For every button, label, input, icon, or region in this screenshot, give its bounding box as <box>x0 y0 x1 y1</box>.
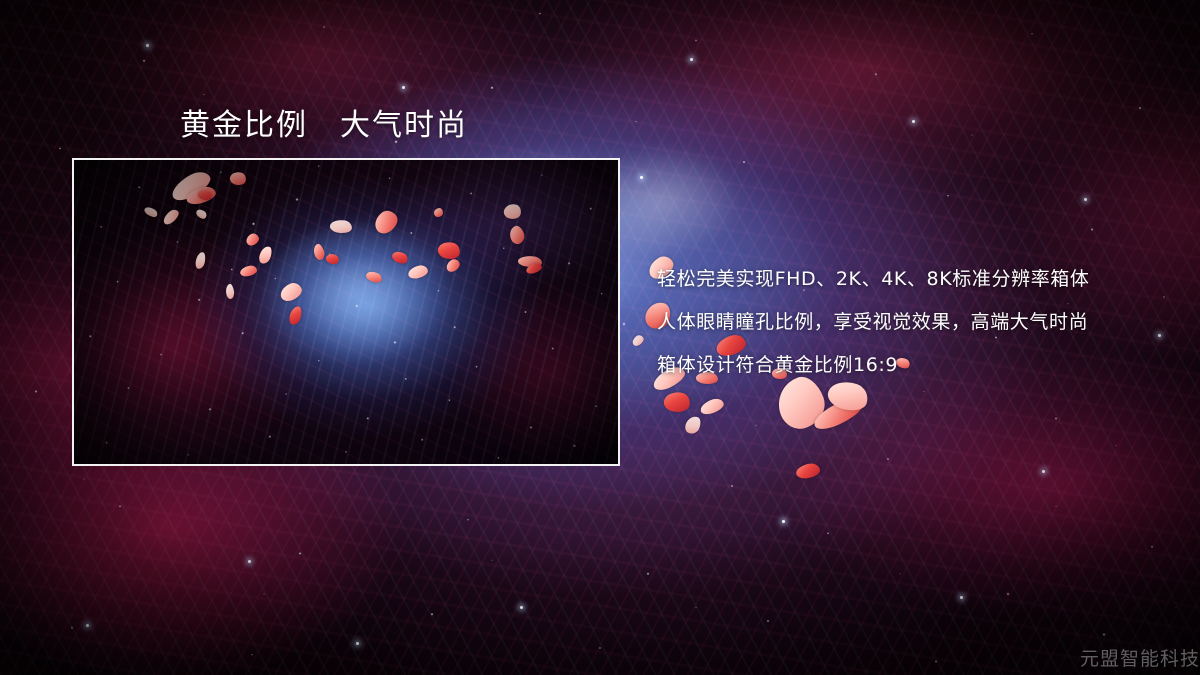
bright-star <box>1042 470 1045 473</box>
body-copy-line: 人体眼睛瞳孔比例，享受视觉效果，高端大气时尚 <box>657 301 1090 344</box>
bright-star <box>960 596 963 599</box>
bright-star <box>690 58 693 61</box>
bright-star <box>1084 198 1087 201</box>
bright-star <box>782 520 785 523</box>
rose-petal <box>631 333 646 347</box>
rose-petal <box>699 397 726 417</box>
watermark: 元盟智能科技 <box>1080 644 1200 671</box>
bright-star <box>248 560 251 563</box>
panel-vignette <box>74 160 618 464</box>
panel-image <box>74 160 618 464</box>
bright-star <box>356 642 359 645</box>
body-copy-line: 箱体设计符合黄金比例16:9 <box>657 344 1090 387</box>
bright-star <box>1158 334 1161 337</box>
bright-star <box>86 624 89 627</box>
bright-star <box>640 176 643 179</box>
body-copy: 轻松完美实现FHD、2K、4K、8K标准分辨率箱体人体眼睛瞳孔比例，享受视觉效果… <box>657 258 1090 387</box>
bright-star <box>146 44 149 47</box>
body-copy-line: 轻松完美实现FHD、2K、4K、8K标准分辨率箱体 <box>657 258 1090 301</box>
framed-image-panel <box>72 158 620 466</box>
rose-petal <box>662 390 691 414</box>
rose-petal <box>795 462 821 479</box>
bright-star <box>520 606 523 609</box>
page-title: 黄金比例 大气时尚 <box>180 100 468 144</box>
rose-petal <box>683 414 703 436</box>
bright-star <box>912 120 915 123</box>
slide-canvas: 黄金比例 大气时尚 轻松完美实现FHD、2K、4K、8K标准分辨率箱体人体眼睛瞳… <box>0 0 1200 675</box>
bright-star <box>402 86 405 89</box>
